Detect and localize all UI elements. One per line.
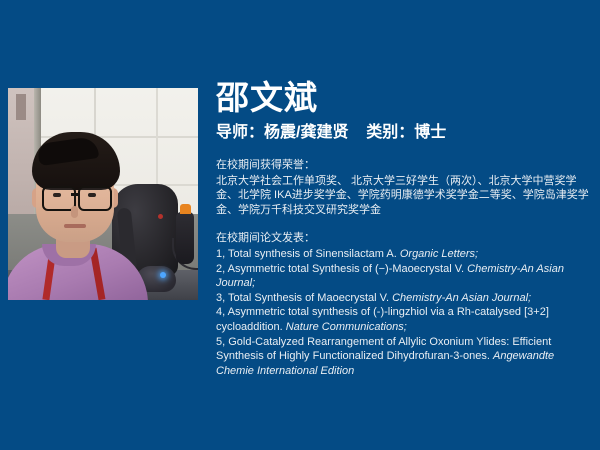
publication-title: Total Synthesis of Maoecrystal V. [228,292,392,304]
publication-index: 2, [216,263,228,275]
publication-item: 4, Asymmetric total synthesis of (-)-lin… [216,305,592,334]
publication-index: 4, [216,306,228,318]
publication-item: 2, Asymmetric total Synthesis of (−)-Mao… [216,262,592,291]
profile-slide: 邵文斌 导师：杨震/龚建贤 类别：博士 在校期间获得荣誉： 北京大学社会工作单项… [0,0,600,450]
publication-journal: Nature Communications; [286,321,407,333]
person-nose [71,206,78,218]
publications-title: 在校期间论文发表： [216,231,592,246]
publication-index: 1, [216,248,228,260]
publications-section: 在校期间论文发表： 1, Total synthesis of Sinensil… [216,231,592,378]
publication-item: 3, Total Synthesis of Maoecrystal V. Che… [216,291,592,306]
publication-item: 1, Total synthesis of Sinensilactam A. O… [216,247,592,262]
wall-fixture [16,94,26,120]
honors-body: 北京大学社会工作单项奖、 北京大学三好学生（两次）、北京大学中营奖学金、北学院 … [216,174,592,218]
publication-index: 3, [216,292,228,304]
eyeglasses-lens [78,186,112,211]
mouse-led [160,272,166,278]
publication-journal: Organic Letters; [400,248,478,260]
profile-photo [8,88,198,300]
honors-section: 在校期间获得荣誉： 北京大学社会工作单项奖、 北京大学三好学生（两次）、北京大学… [216,158,592,217]
advisor-and-category: 导师：杨震/龚建贤 类别：博士 [216,122,592,144]
honors-title: 在校期间获得荣誉： [216,158,592,173]
backpack-logo [158,214,163,219]
bottle-cap [180,204,191,214]
person-mouth [64,224,86,228]
publication-journal: Chemistry-An Asian Journal; [392,292,531,304]
publication-item: 5, Gold-Catalyzed Rearrangement of Allyl… [216,335,592,379]
water-bottle [176,212,194,264]
eyeglasses-bridge [71,193,79,196]
profile-text-column: 邵文斌 导师：杨震/龚建贤 类别：博士 在校期间获得荣誉： 北京大学社会工作单项… [216,78,592,378]
publication-index: 5, [216,336,228,348]
person-name: 邵文斌 [216,78,592,118]
publication-title: Total synthesis of Sinensilactam A. [228,248,400,260]
publication-title: Asymmetric total Synthesis of (−)-Maoecr… [228,263,468,275]
